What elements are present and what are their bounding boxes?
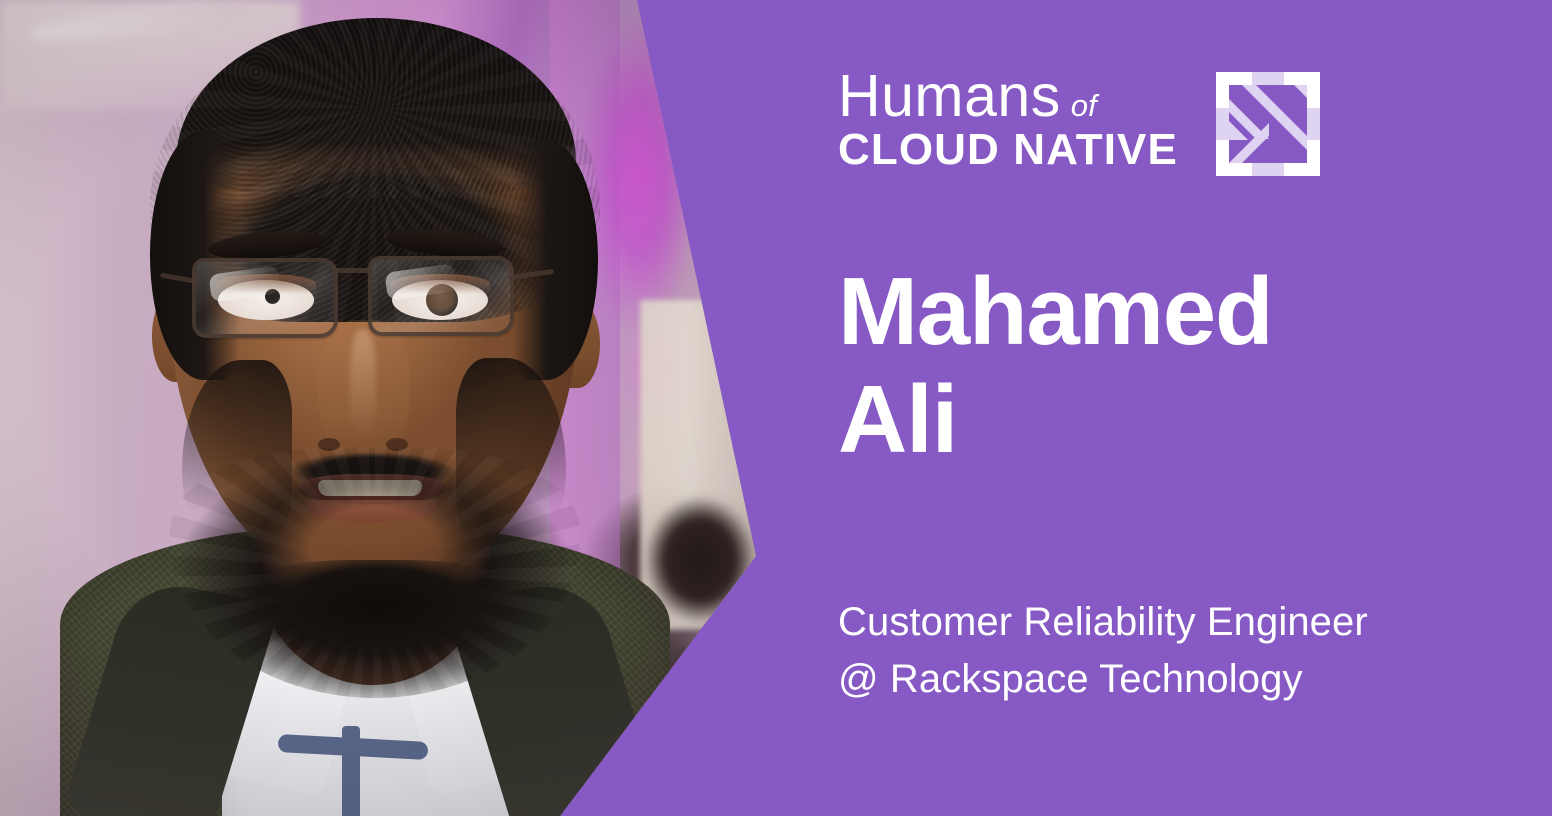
person-name-line-1: Mahamed (838, 258, 1518, 366)
lens-reflection (208, 265, 281, 302)
profile-card: Humans of CLOUD NATIVE (0, 0, 1552, 816)
eyeglass-bridge (336, 268, 372, 273)
person-role-company: @ Rackspace Technology (838, 651, 1528, 708)
eyeglass-lens-right (368, 256, 514, 336)
brand-lockup: Humans of CLOUD NATIVE (838, 68, 1320, 176)
brand-word-cloud-native: CLOUD NATIVE (838, 128, 1178, 173)
brand-word-of: of (1071, 88, 1097, 124)
brand-wordmark: Humans of CLOUD NATIVE (838, 68, 1178, 173)
person-role: Customer Reliability Engineer @ Rackspac… (838, 594, 1528, 708)
eyeglass-lens-left (192, 258, 338, 338)
cloud-native-square-logo-icon (1216, 72, 1320, 176)
person-role-title: Customer Reliability Engineer (838, 594, 1528, 651)
portrait-subject (0, 0, 790, 816)
lens-reflection (384, 263, 457, 300)
brand-line-humans-of: Humans of (838, 68, 1178, 125)
person-name-line-2: Ali (838, 366, 1518, 474)
eyeglasses (0, 0, 790, 816)
person-name: Mahamed Ali (838, 258, 1518, 473)
brand-word-humans: Humans (838, 68, 1061, 125)
eyeglass-temple-right (508, 269, 554, 280)
info-panel: Humans of CLOUD NATIVE (780, 0, 1552, 816)
portrait-photo (0, 0, 790, 816)
portrait-photo-pane (0, 0, 790, 816)
